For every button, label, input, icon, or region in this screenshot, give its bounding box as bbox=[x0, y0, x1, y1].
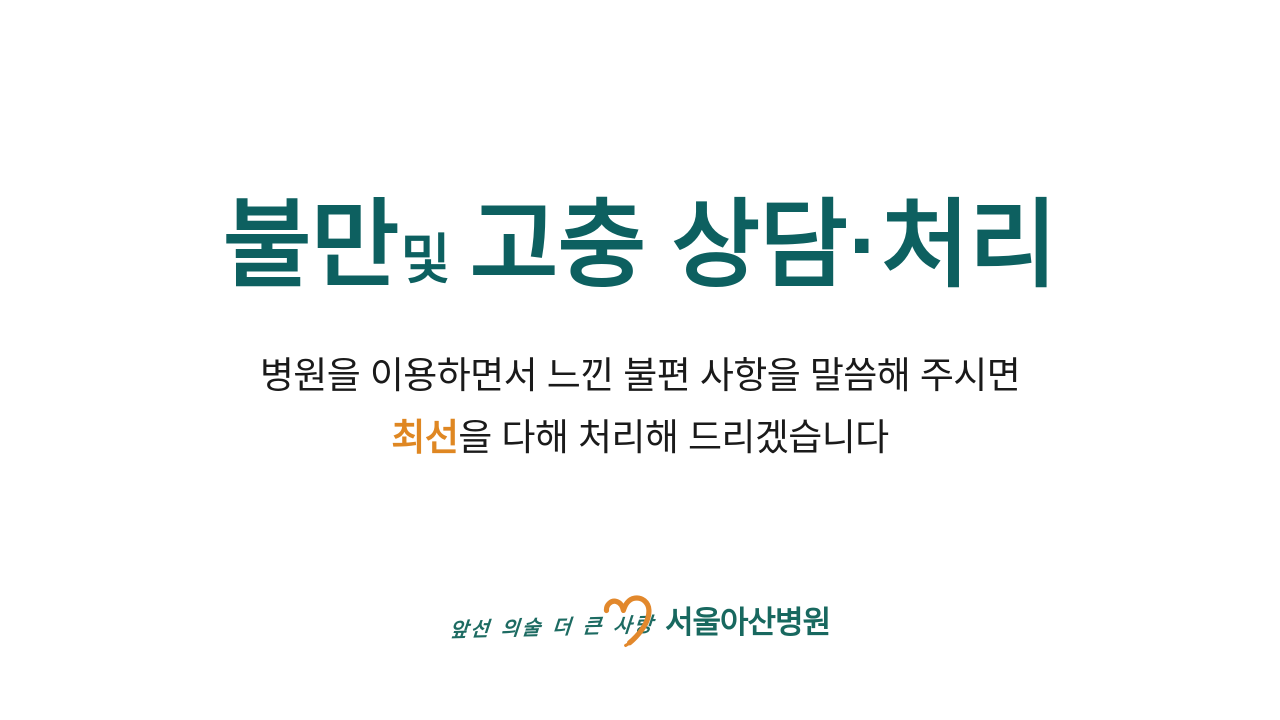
subtitle-line-2: 최선을 다해 처리해 드리겠습니다 bbox=[0, 419, 1280, 456]
subtitle-line-2-rest: 을 다해 처리해 드리겠습니다 bbox=[458, 417, 888, 458]
subtitle-line-1: 병원을 이용하면서 느낀 불편 사항을 말씀해 주시면 bbox=[0, 357, 1280, 394]
logo-inner: 앞선 의술 더 큰 사랑 서울아산병원 bbox=[450, 594, 830, 650]
title-part-processing: 처리 bbox=[881, 192, 1057, 299]
logo-tagline: 앞선 의술 더 큰 사랑 bbox=[449, 608, 661, 642]
hospital-logo: 앞선 의술 더 큰 사랑 서울아산병원 bbox=[0, 592, 1280, 652]
logo-wordmark: 서울아산병원 bbox=[665, 597, 830, 642]
subtitle-highlight-best-effort: 최선 bbox=[391, 417, 458, 458]
title-part-grievance-consult: 고충 상담 bbox=[470, 192, 847, 299]
subtitle: 병원을 이용하면서 느낀 불편 사항을 말씀해 주시면 최선을 다해 처리해 드… bbox=[0, 357, 1280, 456]
title-part-and: 및 bbox=[399, 230, 452, 290]
title-part-complaint: 불만 bbox=[223, 192, 399, 299]
slide-canvas: 불만및고충 상담·처리 병원을 이용하면서 느낀 불편 사항을 말씀해 주시면 … bbox=[0, 0, 1280, 720]
title-middle-dot-separator: · bbox=[847, 192, 881, 299]
page-title: 불만및고충 상담·처리 bbox=[0, 198, 1280, 294]
